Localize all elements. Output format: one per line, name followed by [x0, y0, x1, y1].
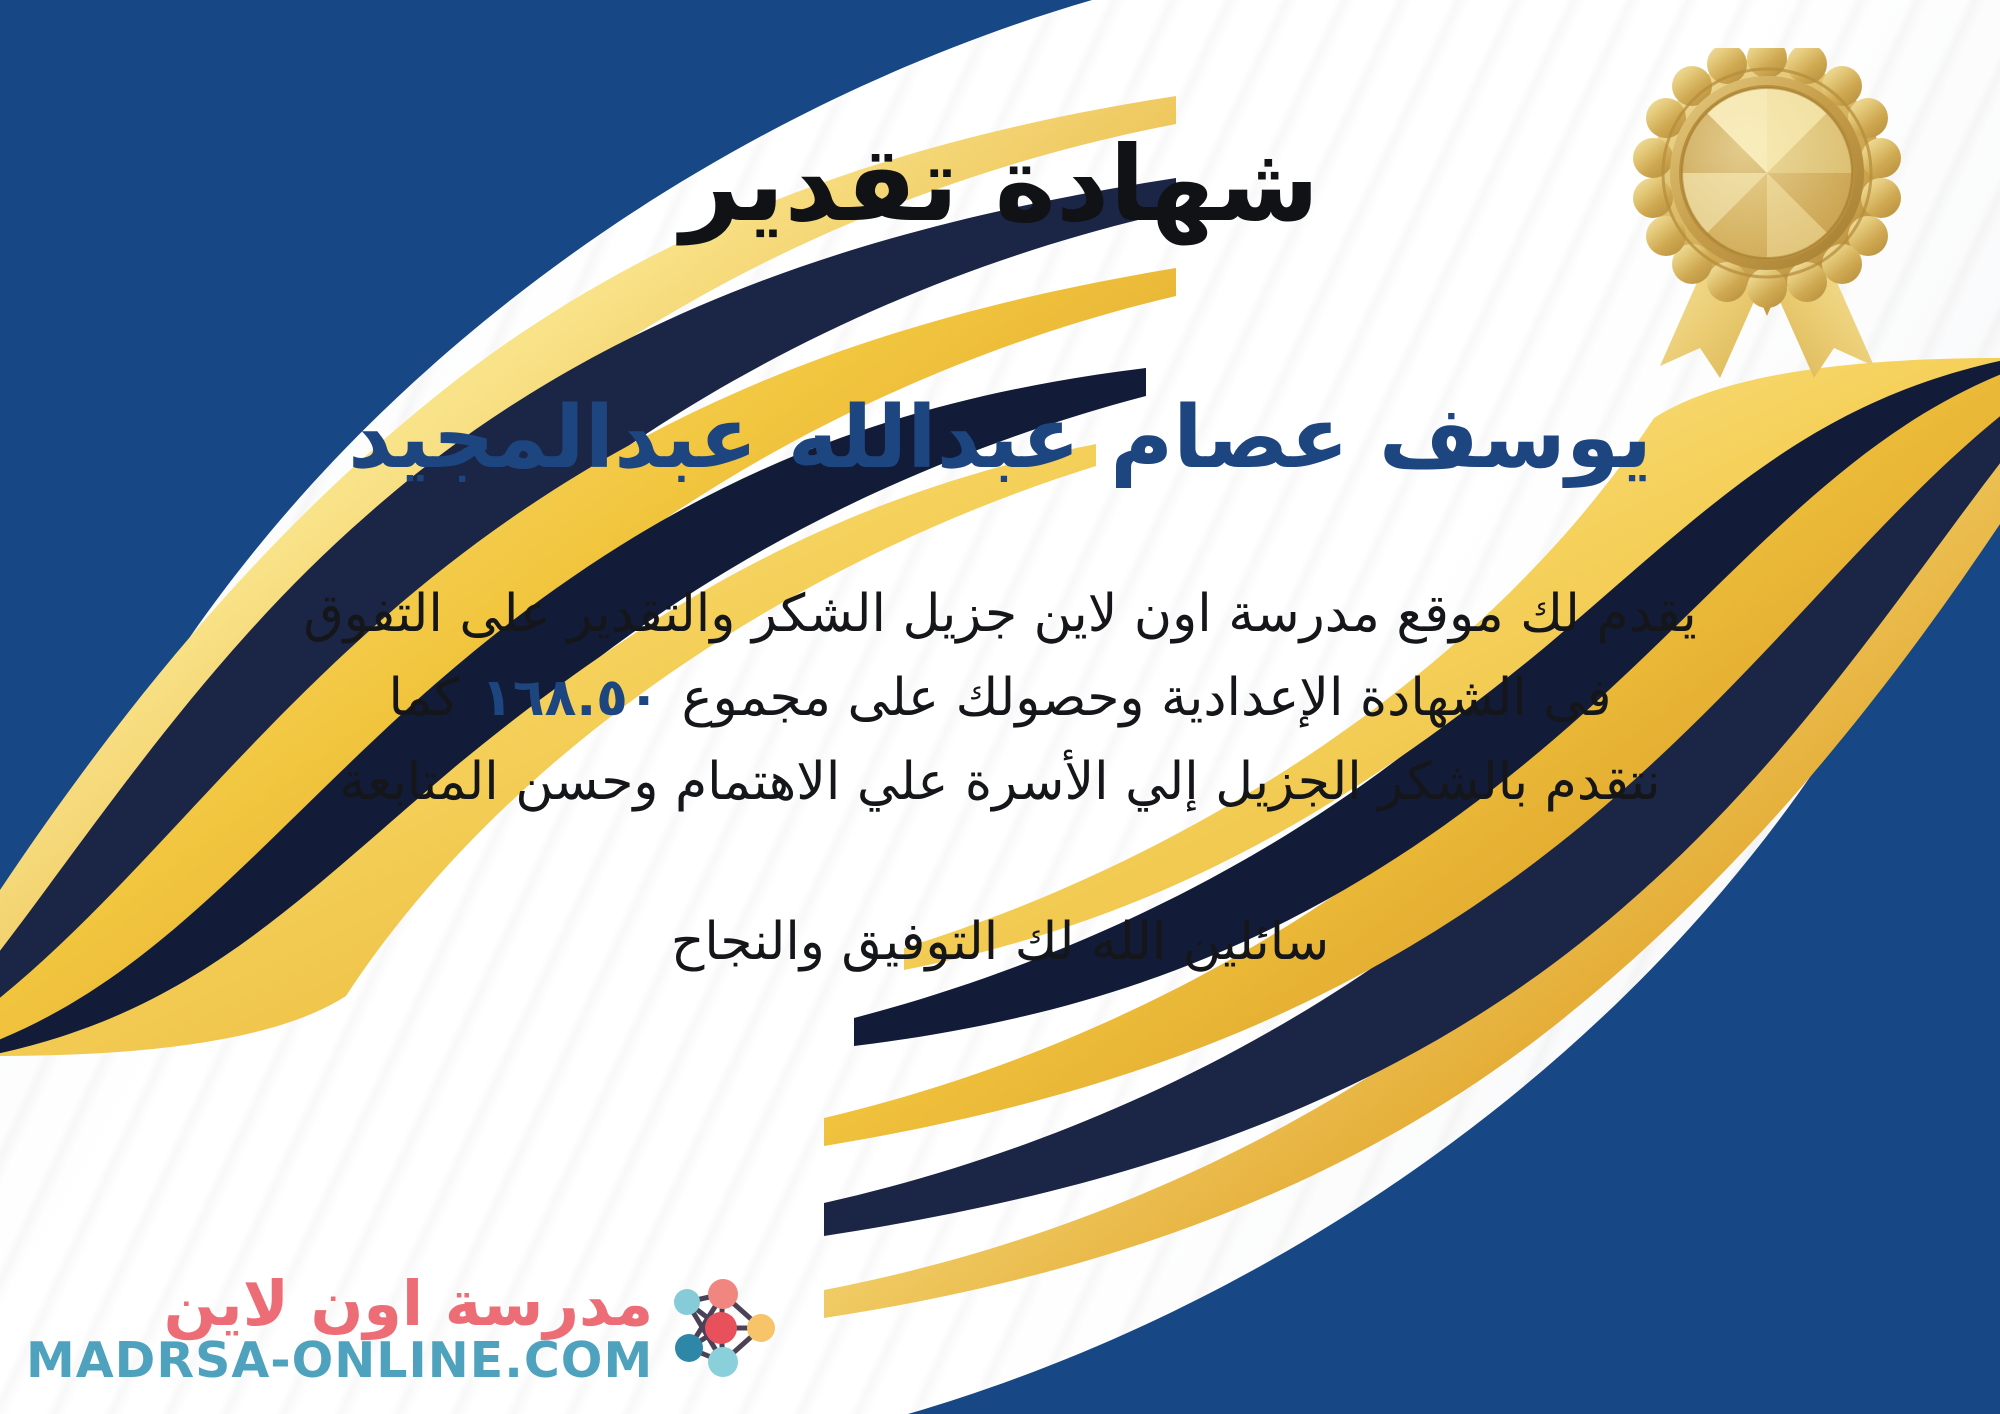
recipient-name: يوسف عصام عبدالله عبدالمجيد — [348, 391, 1652, 486]
certificate-body: يقدم لك موقع مدرسة اون لاين جزيل الشكر و… — [60, 572, 1940, 825]
network-nodes-icon — [661, 1266, 787, 1392]
body-line-2: فى الشهادة الإعدادية وحصولك على مجموع١٦٨… — [60, 656, 1940, 740]
certificate-content: شهادة تقدير يوسف عصام عبدالله عبدالمجيد … — [0, 0, 2000, 1414]
closing-line: سائلين الله لك التوفيق والنجاح — [671, 912, 1329, 972]
brand-website-url[interactable]: MADRSA-ONLINE.COM — [26, 1335, 653, 1386]
body-line-3: نتقدم بالشكر الجزيل إلي الأسرة علي الاهت… — [60, 740, 1940, 824]
certificate-title: شهادة تقدير — [681, 130, 1320, 239]
body-line-2-prefix: فى الشهادة الإعدادية وحصولك على مجموع — [682, 668, 1612, 728]
brand-text-block: مدرسة اون لاين MADRSA-ONLINE.COM — [26, 1272, 653, 1387]
body-line-2-suffix: كما — [388, 668, 459, 728]
brand-logo[interactable]: مدرسة اون لاين MADRSA-ONLINE.COM — [26, 1266, 787, 1392]
brand-arabic-name: مدرسة اون لاين — [164, 1272, 654, 1335]
body-line-1: يقدم لك موقع مدرسة اون لاين جزيل الشكر و… — [60, 572, 1940, 656]
total-score-value: ١٦٨.٥٠ — [459, 668, 681, 728]
certificate-canvas: شهادة تقدير يوسف عصام عبدالله عبدالمجيد … — [0, 0, 2000, 1414]
